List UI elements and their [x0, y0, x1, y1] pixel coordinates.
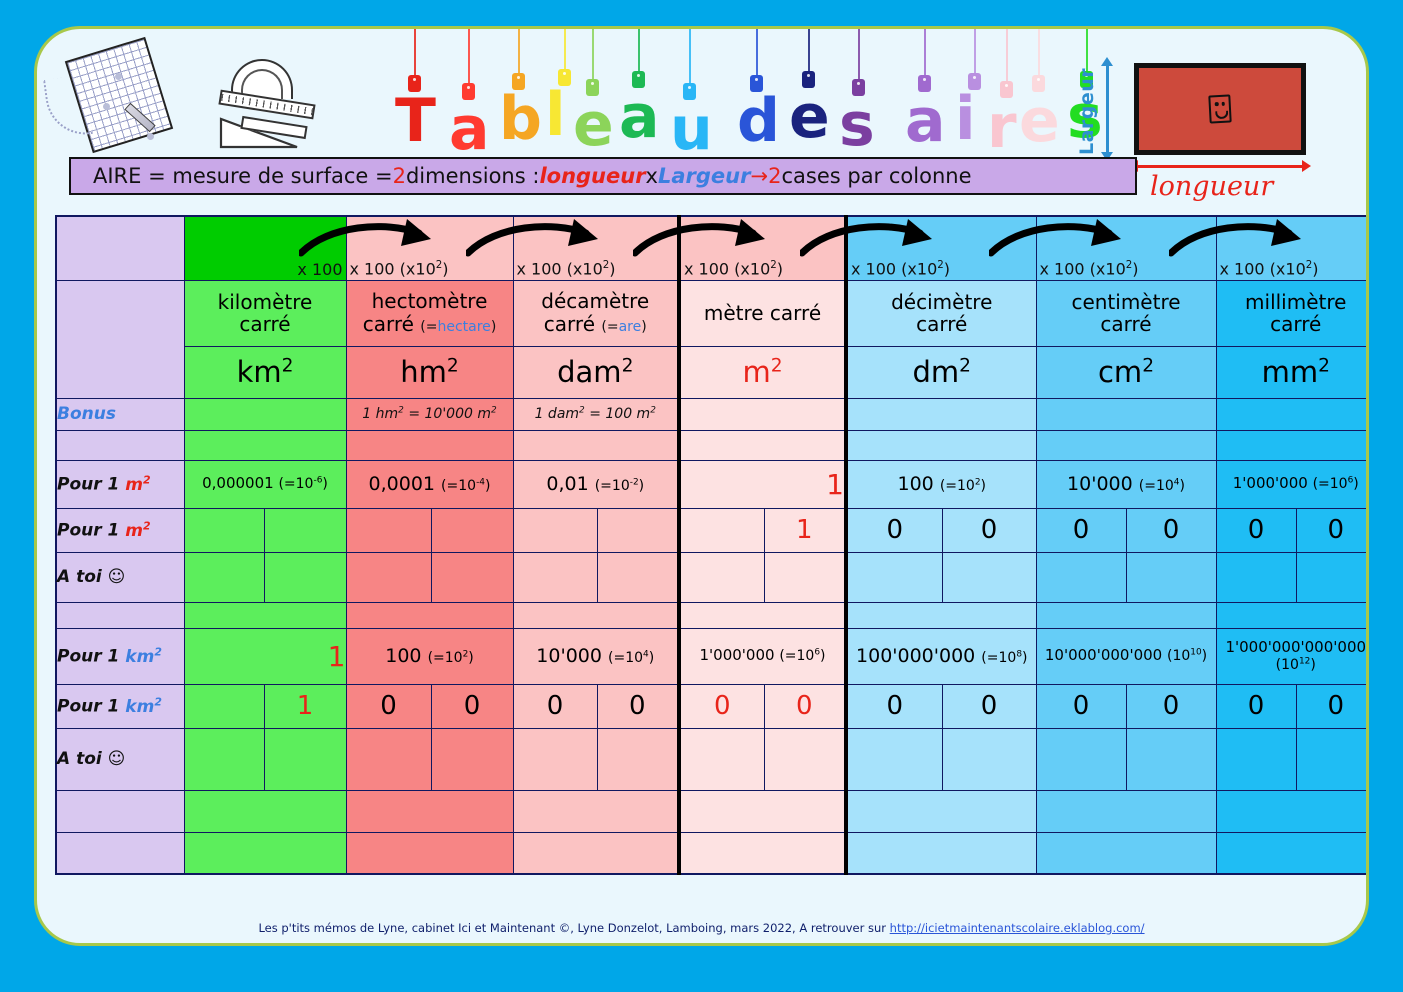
blank-cell-dam-0[interactable]	[513, 552, 597, 602]
unit-alias-paren: (=	[420, 319, 437, 335]
row-label-cell	[56, 602, 184, 628]
empty-cell-mm[interactable]	[1216, 602, 1369, 628]
blank-cell-cm-0[interactable]	[1036, 728, 1126, 790]
title-letter: e	[789, 87, 830, 147]
empty-cell-dm[interactable]	[846, 790, 1036, 832]
value-mm: 1'000'000'000'000 (1012)	[1225, 638, 1366, 673]
digit-cell-hm-1[interactable]: 0	[431, 684, 513, 728]
unit-symbol-cm: cm2	[1098, 355, 1154, 389]
digit: 0	[886, 691, 903, 721]
digit: 0	[981, 691, 998, 721]
unit-alias-paren: (=	[601, 319, 618, 335]
blank-cell-mm-0[interactable]	[1216, 728, 1296, 790]
digit-cell-m-0[interactable]	[679, 508, 764, 552]
value-cell-hm: 0,0001 (=10-4)	[346, 460, 513, 508]
unit-name-line2: carré	[544, 312, 595, 336]
blank-cell-dm-1[interactable]	[942, 728, 1036, 790]
blank-cell-m-1[interactable]	[764, 728, 846, 790]
digit-cell-dm-0[interactable]: 0	[846, 684, 942, 728]
unit-symbol-dm: dm2	[913, 355, 971, 389]
empty-cell-mm[interactable]	[1216, 832, 1369, 874]
unit-name-line1: hectomètre	[372, 289, 488, 313]
unit-symbol-cell-hm: hm2	[346, 346, 513, 398]
bonus-cell-hm: 1 hm2 = 10'000 m2	[346, 398, 513, 430]
blank-cell-cm-1[interactable]	[1126, 728, 1216, 790]
title-letter: l	[545, 85, 566, 145]
row-label-cell: Pour 1 m2	[56, 508, 184, 552]
unit-name-cell-mm: millimètrecarré	[1216, 280, 1369, 346]
unit-name-cell-hm: hectomètrecarré (=hectare)	[346, 280, 513, 346]
digit: 0	[714, 691, 731, 721]
value-cell-cm: 10'000'000'000 (1010)	[1036, 628, 1216, 684]
empty-cell-cm[interactable]	[1036, 602, 1216, 628]
unit-name-row: kilomètrecarréhectomètrecarré (=hectare)…	[56, 280, 1369, 346]
unit-name-cell-dam: décamètrecarré (=are)	[513, 280, 679, 346]
value-cell-km: 1	[184, 628, 346, 684]
row-label-cell: Pour 1 km2	[56, 628, 184, 684]
unit-symbol-mm: mm2	[1262, 355, 1330, 389]
banner-part1: AIRE = mesure de surface =	[93, 164, 393, 188]
empty-cell-m[interactable]	[679, 602, 846, 628]
blank-cell-km-1[interactable]	[264, 728, 346, 790]
unit-name-dam: décamètrecarré (=are)	[514, 286, 678, 339]
digit-cell-mm-1[interactable]: 0	[1296, 684, 1369, 728]
empty-cell-dam[interactable]	[513, 602, 679, 628]
row-label-pour1m2: Pour 1 m2	[57, 475, 151, 495]
blank-cell-hm-0[interactable]	[346, 728, 431, 790]
row-label-cell: Pour 1 km2	[56, 684, 184, 728]
value-dm: 100'000'000 (=108)	[856, 645, 1027, 667]
digit-cell-km-0[interactable]	[184, 684, 264, 728]
empty-cell-mm[interactable]	[1216, 790, 1369, 832]
blank-cell-mm-1[interactable]	[1296, 552, 1369, 602]
digit-cell-dm-1[interactable]: 0	[942, 508, 1036, 552]
empty-cell-cm[interactable]	[1036, 430, 1216, 460]
title-letter: a	[905, 91, 946, 151]
digit-cell-km-0[interactable]	[184, 508, 264, 552]
digit-cell-cm-1[interactable]: 0	[1126, 508, 1216, 552]
digit: 0	[1163, 515, 1180, 545]
longueur-arrow-icon	[1138, 165, 1302, 168]
banner-two: 2	[393, 164, 406, 188]
row-label: Pour 1 m2	[57, 521, 151, 541]
row-label-cell: A toi ☺	[56, 728, 184, 790]
title-letter: d	[737, 91, 780, 151]
unit-symbol-cell-cm: cm2	[1036, 346, 1216, 398]
blank-cell-mm-0[interactable]	[1216, 552, 1296, 602]
digit-cell-mm-0[interactable]: 0	[1216, 684, 1296, 728]
digit: 1	[796, 515, 813, 545]
digit: 1	[297, 691, 314, 721]
value-cell-m: 1'000'000 (=106)	[679, 628, 846, 684]
bonus-text-dam: 1 dam2 = 100 m2	[535, 406, 656, 422]
unit-name-line2: carré	[363, 312, 414, 336]
unit-name-cell-m: mètre carré	[679, 280, 846, 346]
empty-cell-dm[interactable]	[846, 602, 1036, 628]
unit-name-cell-cm: centimètrecarré	[1036, 280, 1216, 346]
bonus-cell-km	[184, 398, 346, 430]
unit-name-line1: décamètre	[541, 289, 649, 313]
footer-link[interactable]: http://icietmaintenantscolaire.eklablog.…	[890, 921, 1145, 935]
blank-cell-hm-1[interactable]	[431, 728, 513, 790]
empty-cell-mm[interactable]	[1216, 430, 1369, 460]
digit-cell-hm-0[interactable]: 0	[346, 684, 431, 728]
pour-1-m2-values-row: Pour 1 m20,000001 (=10-6)0,0001 (=10-4)0…	[56, 460, 1369, 508]
unit-symbol-km: km2	[237, 355, 294, 389]
value-km: 0,000001 (=10-6)	[202, 474, 328, 492]
value-km: 1	[328, 640, 346, 673]
empty-cell-km[interactable]	[184, 602, 346, 628]
footer-text: Les p'tits mémos de Lyne, cabinet Ici et…	[258, 921, 889, 935]
rectangle-shape	[1134, 63, 1306, 155]
empty-cell-m[interactable]	[679, 430, 846, 460]
value-cell-dam: 0,01 (=10-2)	[513, 460, 679, 508]
pour-1-km2-values-row: Pour 1 km21100 (=102)10'000 (=104)1'000'…	[56, 628, 1369, 684]
smiley-face-icon	[1208, 94, 1231, 123]
unit-name-cell-km: kilomètrecarré	[184, 280, 346, 346]
digit-cell-cm-1[interactable]: 0	[1126, 684, 1216, 728]
value-cell-mm: 1'000'000'000'000 (1012)	[1216, 628, 1369, 684]
unit-name-cm: centimètrecarré	[1037, 287, 1216, 340]
blank-cell-dam-1[interactable]	[597, 552, 679, 602]
banner-part3: cases par colonne	[781, 164, 971, 188]
digit-cell-mm-0[interactable]: 0	[1216, 508, 1296, 552]
value-hm: 100 (=102)	[385, 645, 474, 667]
row-label-cell	[56, 430, 184, 460]
blank-cell-hm-0[interactable]	[346, 552, 431, 602]
digit: 0	[1327, 515, 1344, 545]
unit-name-cell-dm: décimètrecarré	[846, 280, 1036, 346]
blank-cell-m-0[interactable]	[679, 728, 764, 790]
title-letter: e	[573, 95, 614, 155]
unit-alias: hectare	[437, 319, 490, 335]
unit-name-line1: millimètre	[1245, 290, 1346, 314]
largeur-label: Largeur	[1074, 63, 1100, 159]
digit-cell-m-1[interactable]: 0	[764, 684, 846, 728]
empty-cell-hm[interactable]	[346, 602, 513, 628]
pour-1-km2-digits-row: Pour 1 km21000000000000	[56, 684, 1369, 728]
longueur-label: longueur	[1150, 171, 1273, 202]
row-label-bonus: Bonus	[57, 404, 116, 424]
header: Tableau des aires Tableaudesaires Largeu…	[37, 29, 1366, 201]
banner-two-2: 2	[768, 164, 781, 188]
value-cell-dm: 100 (=102)	[846, 460, 1036, 508]
multiplier-label: x 100 (x102)	[350, 259, 449, 278]
digit: 0	[796, 691, 813, 721]
row-label-atoi: A toi ☺	[57, 567, 125, 587]
blank-cell-dm-0[interactable]	[846, 552, 942, 602]
row-label-cell: A toi ☺	[56, 552, 184, 602]
digit-cell-m-0[interactable]: 0	[679, 684, 764, 728]
empty-cell-m[interactable]	[679, 832, 846, 874]
a-toi-row-1: A toi ☺	[56, 552, 1369, 602]
digit: 0	[886, 515, 903, 545]
row-label-pour1km2: Pour 1 km2	[57, 647, 162, 667]
digit-cell-dam-1[interactable]	[597, 508, 679, 552]
unit-symbol-cell-dm: dm2	[846, 346, 1036, 398]
title-letter: e	[1019, 91, 1060, 151]
digit: 0	[1073, 515, 1090, 545]
blank-cell-km-0[interactable]	[184, 728, 264, 790]
empty-cell-hm[interactable]	[346, 790, 513, 832]
unit-name-line1: mètre carré	[704, 301, 821, 325]
digit-cell-km-1[interactable]	[264, 508, 346, 552]
banner-arrow-icon: →	[750, 164, 768, 188]
unit-name-m: mètre carré	[681, 298, 844, 328]
empty-cell-dm[interactable]	[846, 832, 1036, 874]
empty-cell-km[interactable]	[184, 832, 346, 874]
arrow-header-row: x 100 x 100 (x102)x 100 (x102)x 100 (x10…	[56, 216, 1369, 280]
digit-cell-m-1[interactable]: 1	[764, 508, 846, 552]
digit-cell-cm-0[interactable]: 0	[1036, 684, 1126, 728]
arrow-header-cell-mm: x 100 (x102)	[1216, 216, 1369, 280]
digit: 0	[981, 515, 998, 545]
unit-name-line2: carré	[1100, 312, 1151, 336]
unit-name-km: kilomètrecarré	[185, 287, 346, 340]
unit-symbol-cell-km: km2	[184, 346, 346, 398]
digit-cell-dm-0[interactable]: 0	[846, 508, 942, 552]
blank-cell-dm-0[interactable]	[846, 728, 942, 790]
unit-name-line2: carré	[1270, 312, 1321, 336]
blank-cell-m-0[interactable]	[679, 552, 764, 602]
pour-1-m2-digits-row: Pour 1 m21000000	[56, 508, 1369, 552]
empty-cell-dm[interactable]	[846, 430, 1036, 460]
largeur-arrow-icon	[1106, 65, 1109, 153]
row-label-atoi: A toi ☺	[57, 749, 125, 769]
empty-cell-m[interactable]	[679, 790, 846, 832]
value-cell-km: 0,000001 (=10-6)	[184, 460, 346, 508]
title-letter: T	[395, 91, 436, 151]
empty-cell-km[interactable]	[184, 790, 346, 832]
banner-largeur: Largeur	[658, 164, 751, 188]
multiplier-label: x 100 (x102)	[517, 259, 616, 278]
digit: 0	[1327, 691, 1344, 721]
empty-cell-dam[interactable]	[513, 832, 679, 874]
value-m: 1'000'000 (=106)	[699, 646, 825, 664]
poster-card: Tableau des aires Tableaudesaires Largeu…	[34, 26, 1369, 946]
unit-name-line1: kilomètre	[218, 290, 313, 314]
corner-cell	[56, 216, 184, 280]
unit-symbol-hm: hm2	[400, 355, 458, 389]
unit-symbol-row: km2hm2dam2m2dm2cm2mm2	[56, 346, 1369, 398]
digit-cell-dam-1[interactable]: 0	[597, 684, 679, 728]
blank-cell-km-0[interactable]	[184, 552, 264, 602]
value-cell-mm: 1'000'000 (=106)	[1216, 460, 1369, 508]
digit-cell-dm-1[interactable]: 0	[942, 684, 1036, 728]
unit-symbol-cell-dam: dam2	[513, 346, 679, 398]
bonus-cell-m	[679, 398, 846, 430]
digit-cell-cm-0[interactable]: 0	[1036, 508, 1126, 552]
units-table-wrapper: x 100 x 100 (x102)x 100 (x102)x 100 (x10…	[55, 215, 1355, 875]
digit: 0	[547, 691, 564, 721]
digit-cell-hm-1[interactable]	[431, 508, 513, 552]
a-toi-row-2: A toi ☺	[56, 728, 1369, 790]
spacer-row-3	[56, 790, 1369, 832]
value-dam: 10'000 (=104)	[536, 645, 654, 667]
row-label-cell: Pour 1 m2	[56, 460, 184, 508]
multiplier-label: x 100 (x102)	[1040, 259, 1139, 278]
blank-cell-km-1[interactable]	[264, 552, 346, 602]
value-dam: 0,01 (=10-2)	[546, 473, 644, 495]
value-cell-dam: 10'000 (=104)	[513, 628, 679, 684]
empty-cell-cm[interactable]	[1036, 790, 1216, 832]
multiplier-label: x 100 (x102)	[851, 259, 950, 278]
footer: Les p'tits mémos de Lyne, cabinet Ici et…	[37, 921, 1366, 935]
banner-part2: dimensions :	[406, 164, 539, 188]
title-letter: s	[839, 95, 875, 155]
blank-cell-dm-1[interactable]	[942, 552, 1036, 602]
unit-name-mm: millimètrecarré	[1217, 287, 1370, 340]
unit-name-hm: hectomètrecarré (=hectare)	[347, 286, 513, 339]
blank-cell-cm-0[interactable]	[1036, 552, 1126, 602]
title-letter: r	[987, 97, 1017, 157]
value-cm: 10'000'000'000 (1010)	[1045, 646, 1207, 664]
bonus-cell-dam: 1 dam2 = 100 m2	[513, 398, 679, 430]
unit-name-line1: centimètre	[1071, 290, 1180, 314]
value-dm: 100 (=102)	[898, 473, 987, 495]
empty-cell-hm[interactable]	[346, 832, 513, 874]
digit-cell-hm-0[interactable]	[346, 508, 431, 552]
digit-cell-dam-0[interactable]	[513, 508, 597, 552]
digit: 0	[380, 691, 397, 721]
digit: 0	[464, 691, 481, 721]
title-letter: b	[499, 89, 542, 149]
digit: 0	[1248, 691, 1265, 721]
unit-symbol-dam: dam2	[557, 355, 633, 389]
mascot-cell	[56, 280, 184, 398]
banner-longueur: longueur	[539, 164, 645, 188]
bonus-text-hm: 1 hm2 = 10'000 m2	[362, 406, 496, 422]
empty-cell-cm[interactable]	[1036, 832, 1216, 874]
value-m: 1	[826, 468, 844, 501]
bonus-cell-dm	[846, 398, 1036, 430]
multiplier-label: x 100 (x102)	[684, 259, 783, 278]
unit-alias: are	[619, 319, 642, 335]
spacer-row-4	[56, 832, 1369, 874]
unit-name-line2: carré	[916, 312, 967, 336]
blank-cell-cm-1[interactable]	[1126, 552, 1216, 602]
title-letter: a	[619, 87, 660, 147]
blank-cell-m-1[interactable]	[764, 552, 846, 602]
row-label-cell	[56, 832, 184, 874]
empty-cell-hm[interactable]	[346, 430, 513, 460]
digit-cell-dam-0[interactable]: 0	[513, 684, 597, 728]
unit-symbol-cell-m: m2	[679, 346, 846, 398]
unit-symbol-m: m2	[742, 355, 782, 389]
spacer-row-1	[56, 430, 1369, 460]
value-hm: 0,0001 (=10-4)	[369, 473, 491, 495]
empty-cell-dam[interactable]	[513, 790, 679, 832]
digit: 0	[1248, 515, 1265, 545]
ruler-protractor-icon	[215, 59, 325, 151]
multiplier-label: x 100 (x102)	[1220, 259, 1319, 278]
row-label: Pour 1 km2	[57, 697, 162, 717]
value-cell-m: 1	[679, 460, 846, 508]
banner-x: x	[646, 164, 658, 188]
spacer-row-2	[56, 602, 1369, 628]
unit-name-dm: décimètrecarré	[848, 287, 1036, 340]
unit-name-line2: carré	[239, 312, 290, 336]
digit-cell-km-1[interactable]: 1	[264, 684, 346, 728]
empty-cell-dam[interactable]	[513, 430, 679, 460]
value-cell-hm: 100 (=102)	[346, 628, 513, 684]
blank-cell-hm-1[interactable]	[431, 552, 513, 602]
units-table: x 100 x 100 (x102)x 100 (x102)x 100 (x10…	[55, 215, 1369, 875]
title-letter: u	[670, 99, 713, 159]
empty-cell-km[interactable]	[184, 430, 346, 460]
multiplier-label: x 100	[297, 260, 342, 279]
value-mm: 1'000'000 (=106)	[1233, 474, 1359, 492]
digit: 0	[629, 691, 646, 721]
unit-name-line1: décimètre	[891, 290, 992, 314]
blank-cell-dam-1[interactable]	[597, 728, 679, 790]
digit: 0	[1163, 691, 1180, 721]
value-cm: 10'000 (=104)	[1067, 473, 1185, 495]
digit: 0	[1073, 691, 1090, 721]
blank-cell-mm-1[interactable]	[1296, 728, 1369, 790]
definition-banner: AIRE = mesure de surface = 2 dimensions …	[69, 157, 1137, 195]
digit-cell-mm-1[interactable]: 0	[1296, 508, 1369, 552]
title-letter: a	[449, 99, 490, 159]
value-cell-dm: 100'000'000 (=108)	[846, 628, 1036, 684]
row-label-cell	[56, 790, 184, 832]
row-label-cell: Bonus	[56, 398, 184, 430]
bonus-row: Bonus1 hm2 = 10'000 m21 dam2 = 100 m2	[56, 398, 1369, 430]
blank-cell-dam-0[interactable]	[513, 728, 597, 790]
unit-symbol-cell-mm: mm2	[1216, 346, 1369, 398]
bonus-cell-mm	[1216, 398, 1369, 430]
bonus-cell-cm	[1036, 398, 1216, 430]
title-letter: i	[955, 89, 976, 149]
value-cell-cm: 10'000 (=104)	[1036, 460, 1216, 508]
